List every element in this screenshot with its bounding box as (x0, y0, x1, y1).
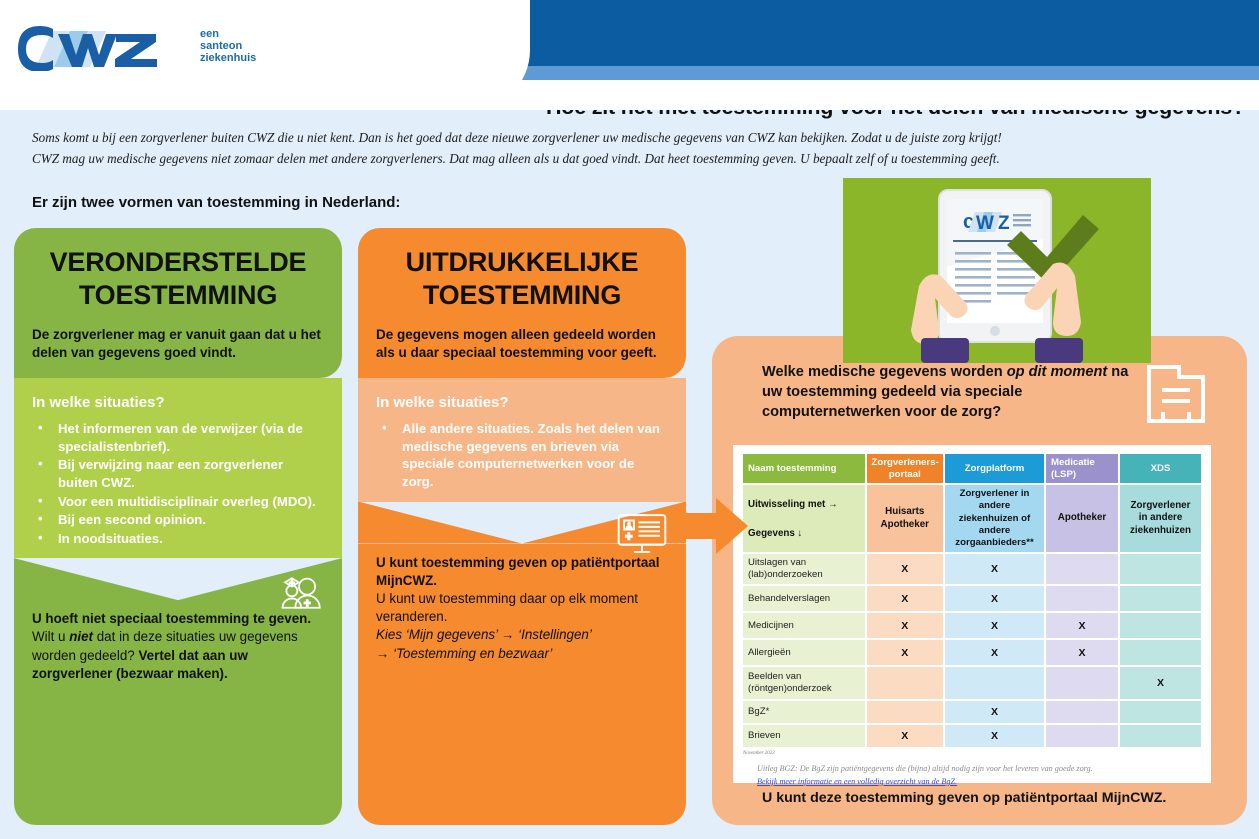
cell-zorgplatform: X (945, 725, 1044, 747)
row-label: Behandelverslagen (743, 586, 865, 611)
card-uitdrukkelijke-toestemming: UITDRUKKELIJKE TOESTEMMING De gegevens m… (358, 228, 686, 825)
table-row: BgZ* X (743, 701, 1201, 723)
td-sub-medicatie: Apotheker (1046, 485, 1118, 552)
label-uitwisseling-met: Uitwisseling met → (748, 499, 860, 510)
table-row: Beelden van (röntgen)onderzoek X (743, 667, 1201, 699)
row-label: BgZ* (743, 701, 865, 723)
cell-xds (1120, 640, 1201, 665)
cell-medicatie (1046, 667, 1118, 699)
th-naam-toestemming: Naam toestemming (743, 454, 865, 483)
orange-footer-italic-1: Kies ‘Mijn gegevens’ → ‘Instellingen’ (376, 627, 592, 642)
label-gegevens: Gegevens ↓ (748, 528, 860, 539)
green-footer-bold: U hoeft niet speciaal toestemming te gev… (32, 611, 311, 626)
cell-zorgverlenersportaal: X (867, 613, 944, 638)
th-zorgverlenersportaal: Zorgverleners-portaal (867, 454, 944, 483)
patient-record-monitor-icon (616, 512, 668, 556)
orange-footer-text: U kunt toestemming geven op patiëntporta… (376, 554, 668, 663)
orange-card-lead: De gegevens mogen alleen gedeeld worden … (376, 326, 668, 362)
cell-xds (1120, 613, 1201, 638)
cell-zorgplatform: X (945, 554, 1044, 584)
green-title-line1: VERONDERSTELDE (50, 247, 307, 277)
cell-zorgverlenersportaal: X (867, 640, 944, 665)
orange-card-footer: U kunt toestemming geven op patiëntporta… (358, 544, 686, 826)
orange-situations-heading: In welke situaties? (376, 394, 668, 411)
infographic-page: een santeon ziekenhuis Hoe zit het met t… (0, 0, 1259, 839)
cell-zorgplatform: X (945, 613, 1044, 638)
cell-zorgverlenersportaal: X (867, 586, 944, 611)
green-situations-heading: In welke situaties? (32, 394, 324, 411)
cell-medicatie: X (1046, 640, 1118, 665)
table-subheader-row: Uitwisseling met → Gegevens ↓ Huisarts A… (743, 485, 1201, 552)
cell-xds (1120, 586, 1201, 611)
cell-zorgverlenersportaal (867, 701, 944, 723)
row-label: Allergieën (743, 640, 865, 665)
green-card-footer: U hoeft niet speciaal toestemming te gev… (14, 600, 342, 825)
right-panel-footer: U kunt deze toestemming geven op patiënt… (762, 790, 1166, 806)
orange-footer-rest: U kunt uw toestemming daar op elk moment… (376, 591, 638, 624)
cwz-logo-mark (18, 23, 196, 71)
th-xds: XDS (1120, 454, 1201, 483)
cell-zorgverlenersportaal: X (867, 554, 944, 584)
cell-medicatie (1046, 701, 1118, 723)
green-card-title: VERONDERSTELDE TOESTEMMING (32, 246, 324, 312)
table-row: Medicijnen X X X (743, 613, 1201, 638)
green-card-header: VERONDERSTELDE TOESTEMMING De zorgverlen… (14, 228, 342, 378)
document-icon (1146, 364, 1206, 426)
footnote-text: Uitleg BGZ: De BgZ zijn patiëntgegevens … (757, 763, 1203, 775)
green-card-lead: De zorgverlener mag er vanuit gaan dat u… (32, 326, 324, 362)
arrow-right-icon (676, 495, 748, 557)
cell-zorgplatform: X (945, 586, 1044, 611)
table-row: Uitslagen van (lab)onderzoeken X X (743, 554, 1201, 584)
cell-xds (1120, 701, 1201, 723)
svg-text:Z: Z (998, 213, 1010, 234)
cell-zorgplatform (945, 667, 1044, 699)
question-part-1: Welke medische gegevens worden (762, 364, 1007, 380)
list-item: Voor een multidisciplinair overleg (MDO)… (32, 493, 324, 511)
cell-xds (1120, 554, 1201, 584)
row-label: Medicijnen (743, 613, 865, 638)
orange-card-header: UITDRUKKELIJKE TOESTEMMING De gegevens m… (358, 228, 686, 378)
green-footer-em: niet (69, 629, 93, 644)
right-panel-question: Welke medische gegevens worden op dit mo… (762, 362, 1152, 422)
list-item: Bij een second opinion. (32, 511, 324, 529)
logo-tagline: een santeon ziekenhuis (200, 29, 256, 65)
td-sub-xds: Zorgverlener in andere ziekenhuizen (1120, 485, 1201, 552)
card-veronderstelde-toestemming: VERONDERSTELDE TOESTEMMING De zorgverlen… (14, 228, 342, 825)
row-label: Brieven (743, 725, 865, 747)
cell-xds (1120, 725, 1201, 747)
green-situations-list: Het informeren van de verwijzer (via de … (32, 420, 324, 547)
question-emphasis: op dit moment (1007, 364, 1108, 380)
intro-paragraphs: Soms komt u bij een zorgverlener buiten … (32, 128, 1232, 170)
logo-tagline-line3: ziekenhuis (200, 53, 256, 65)
intro-line-2: CWZ mag uw medische gegevens niet zomaar… (32, 149, 1232, 170)
orange-card-title: UITDRUKKELIJKE TOESTEMMING (376, 246, 668, 312)
list-item: Het informeren van de verwijzer (via de … (32, 420, 324, 455)
cell-medicatie (1046, 554, 1118, 584)
th-medicatie-lsp: Medicatie (LSP) (1046, 454, 1118, 483)
orange-situations-list: Alle andere situaties. Zoals het delen v… (376, 420, 668, 490)
bgz-info-link[interactable]: Bekijk meer informatie en een volledig o… (757, 777, 957, 786)
green-title-line2: TOESTEMMING (79, 280, 277, 310)
cell-medicatie (1046, 725, 1118, 747)
orange-title-line2: TOESTEMMING (423, 280, 621, 310)
orange-footer-bold: U kunt toestemming geven op patiëntporta… (376, 555, 659, 588)
list-item: Bij verwijzing naar een zorgverlener bui… (32, 456, 324, 491)
cell-medicatie: X (1046, 613, 1118, 638)
table-footnote: Uitleg BGZ: De BgZ zijn patiëntgegevens … (741, 756, 1203, 788)
orange-card-situations: In welke situaties? Alle andere situatie… (358, 378, 686, 501)
list-item: In noodsituaties. (32, 530, 324, 548)
cell-zorgverlenersportaal (867, 667, 944, 699)
table-row: Brieven X X (743, 725, 1201, 747)
td-sub-zorgplatform: Zorgverlener in andere ziekenhuizen of a… (945, 485, 1044, 552)
data-table-card: Naam toestemming Zorgverleners-portaal Z… (733, 445, 1211, 783)
green-card-situations: In welke situaties? Het informeren van d… (14, 378, 342, 558)
cell-zorgplatform: X (945, 701, 1044, 723)
td-exchange-data-labels: Uitwisseling met → Gegevens ↓ (743, 485, 865, 552)
cwz-logo: een santeon ziekenhuis (18, 23, 256, 71)
cell-xds: X (1120, 667, 1201, 699)
cell-zorgverlenersportaal: X (867, 725, 944, 747)
orange-footer-italic-2: → ‘Toestemming en bezwaar’ (376, 646, 552, 661)
green-footer-rest-1: Wilt u (32, 629, 69, 644)
intro-line-1: Soms komt u bij een zorgverlener buiten … (32, 128, 1232, 149)
table-header-row: Naam toestemming Zorgverleners-portaal Z… (743, 454, 1201, 483)
cell-zorgplatform: X (945, 640, 1044, 665)
td-sub-zorgverlenersportaal: Huisarts Apotheker (867, 485, 944, 552)
consent-table: Naam toestemming Zorgverleners-portaal Z… (741, 452, 1203, 749)
tablet-illustration: c W Z (843, 178, 1151, 363)
cell-medicatie (1046, 586, 1118, 611)
row-label: Beelden van (röntgen)onderzoek (743, 667, 865, 699)
table-date: November 2023 (741, 749, 1203, 756)
nurse-patient-icon (280, 570, 324, 610)
th-zorgplatform: Zorgplatform (945, 454, 1044, 483)
orange-title-line1: UITDRUKKELIJKE (406, 247, 639, 277)
section-subheading: Er zijn twee vormen van toestemming in N… (32, 194, 400, 211)
list-item: Alle andere situaties. Zoals het delen v… (376, 420, 668, 490)
row-label: Uitslagen van (lab)onderzoeken (743, 554, 865, 584)
table-row: Allergieën X X X (743, 640, 1201, 665)
table-row: Behandelverslagen X X (743, 586, 1201, 611)
svg-text:W: W (976, 213, 994, 234)
tablet-photo: c W Z (843, 178, 1151, 363)
green-footer-text: U hoeft niet speciaal toestemming te gev… (32, 610, 324, 683)
